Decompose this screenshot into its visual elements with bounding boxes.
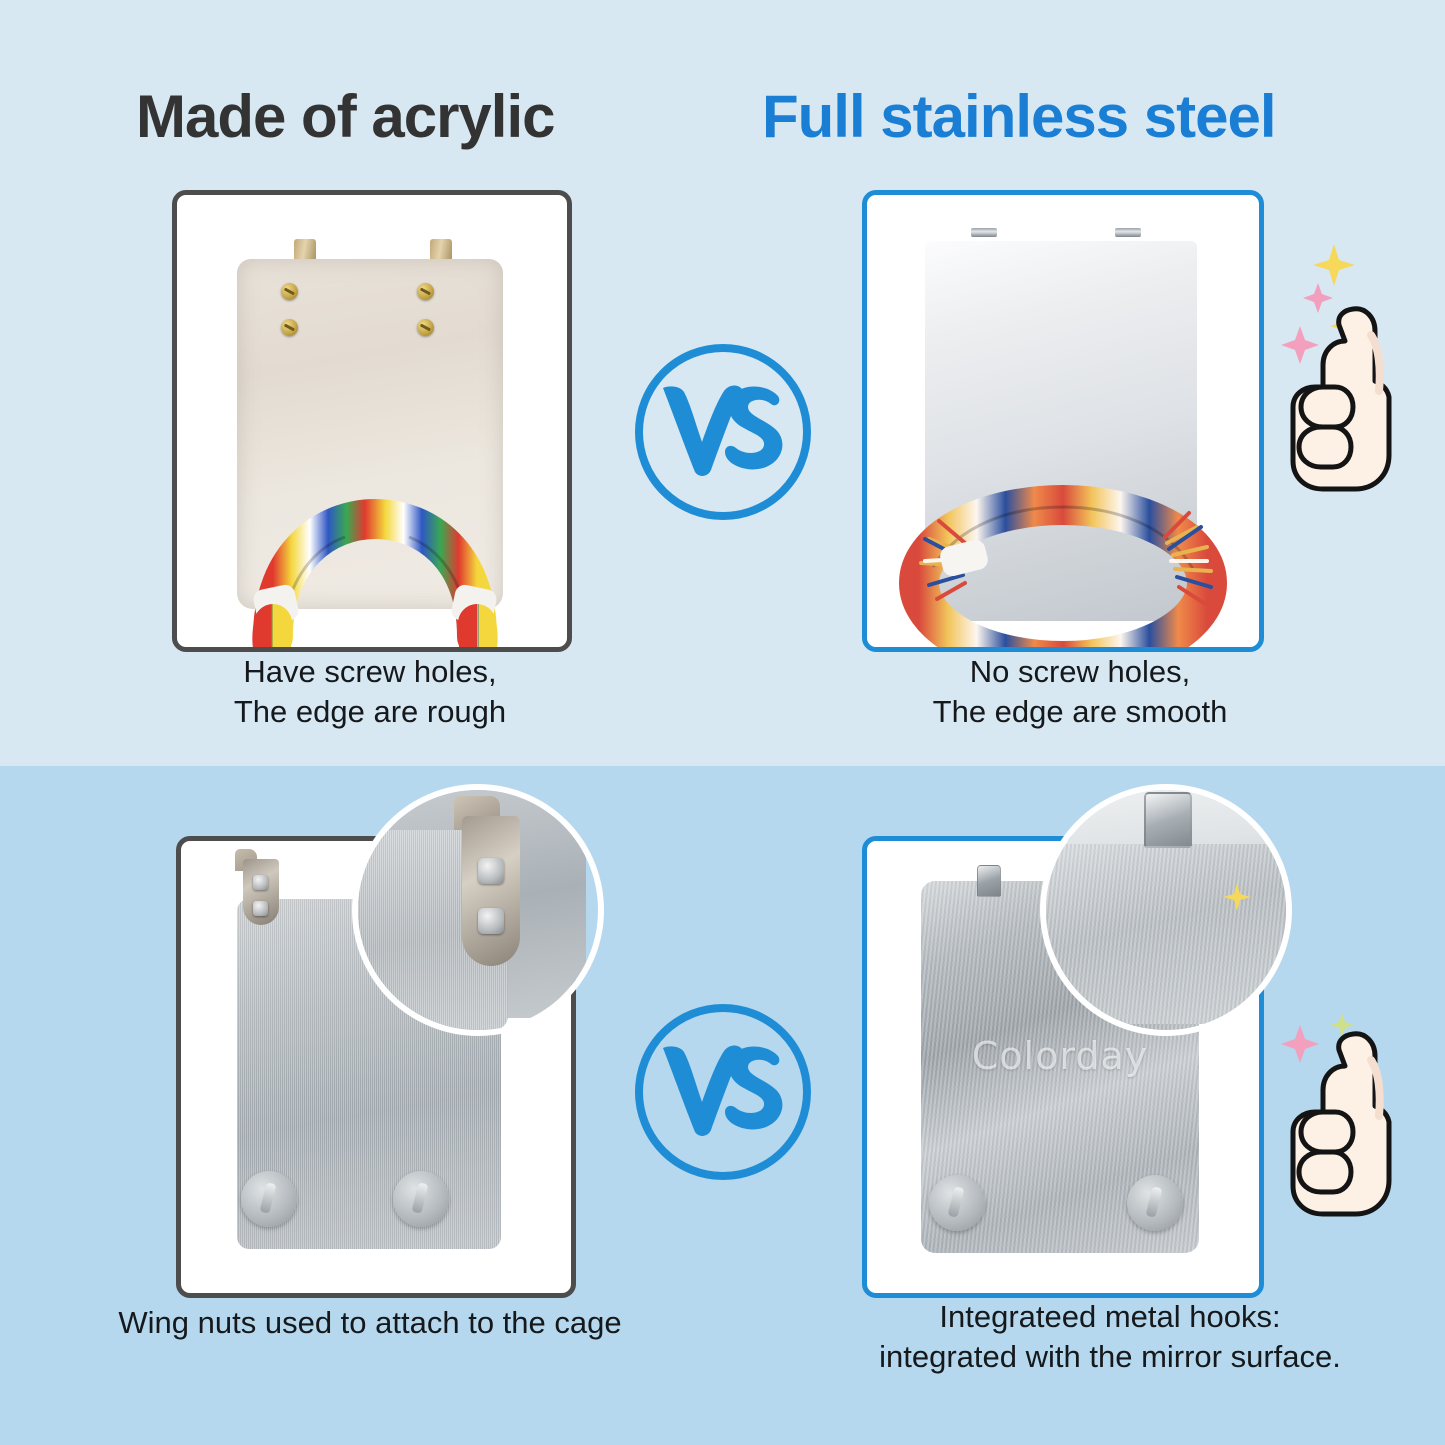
- magnified-plate-surface: [1040, 844, 1286, 1024]
- caption-integrated-hooks: Integrateed metal hooks: integrated with…: [790, 1297, 1430, 1377]
- heading-stainless-steel: Full stainless steel: [762, 82, 1276, 151]
- magnified-sparkle-icon: [1222, 882, 1252, 912]
- vs-badge-top: [632, 341, 814, 523]
- screw-bottom-left: [281, 319, 298, 336]
- vs-badge-bottom: [632, 1001, 814, 1183]
- screw-top-left: [281, 283, 298, 300]
- screw-top-right: [417, 283, 434, 300]
- rainbow-rope-arch: [177, 437, 567, 647]
- heading-acrylic: Made of acrylic: [136, 82, 555, 151]
- product-card-acrylic: [172, 190, 572, 652]
- comparison-infographic: Made of acrylic Full stainless steel: [0, 0, 1445, 1445]
- magnifier-hook-closeup: [352, 784, 604, 1036]
- wing-nut-left: [241, 1171, 297, 1227]
- wing-nut-left: [929, 1175, 985, 1231]
- screw-bottom-right: [417, 319, 434, 336]
- wing-nut-right: [393, 1171, 449, 1227]
- magnified-integrated-hook: [1144, 792, 1192, 848]
- caption-stainless: No screw holes, The edge are smooth: [840, 652, 1320, 732]
- bolt-lower: [253, 901, 268, 916]
- bolt-upper: [253, 875, 268, 890]
- steel-hook-right: [1115, 228, 1141, 237]
- brand-etching: Colorday: [972, 1034, 1148, 1078]
- integrated-hook-top: [977, 865, 1001, 897]
- caption-acrylic: Have screw holes, The edge are rough: [130, 652, 610, 732]
- product-card-stainless: [862, 190, 1264, 652]
- caption-wing-nuts: Wing nuts used to attach to the cage: [60, 1303, 680, 1343]
- magnified-bolt-lower: [478, 908, 504, 934]
- frayed-rope-ring: [867, 447, 1259, 647]
- bolted-hook-bracket: [243, 859, 279, 925]
- magnifier-integrated-hook-closeup: [1040, 784, 1292, 1036]
- magnified-bolt-upper: [478, 858, 504, 884]
- thumbs-up-icon-top: [1283, 295, 1423, 495]
- steel-hook-left: [971, 228, 997, 237]
- wing-nut-right: [1127, 1175, 1183, 1231]
- thumbs-up-icon-bottom: [1283, 1020, 1423, 1220]
- magnified-hook-bracket: [462, 816, 520, 966]
